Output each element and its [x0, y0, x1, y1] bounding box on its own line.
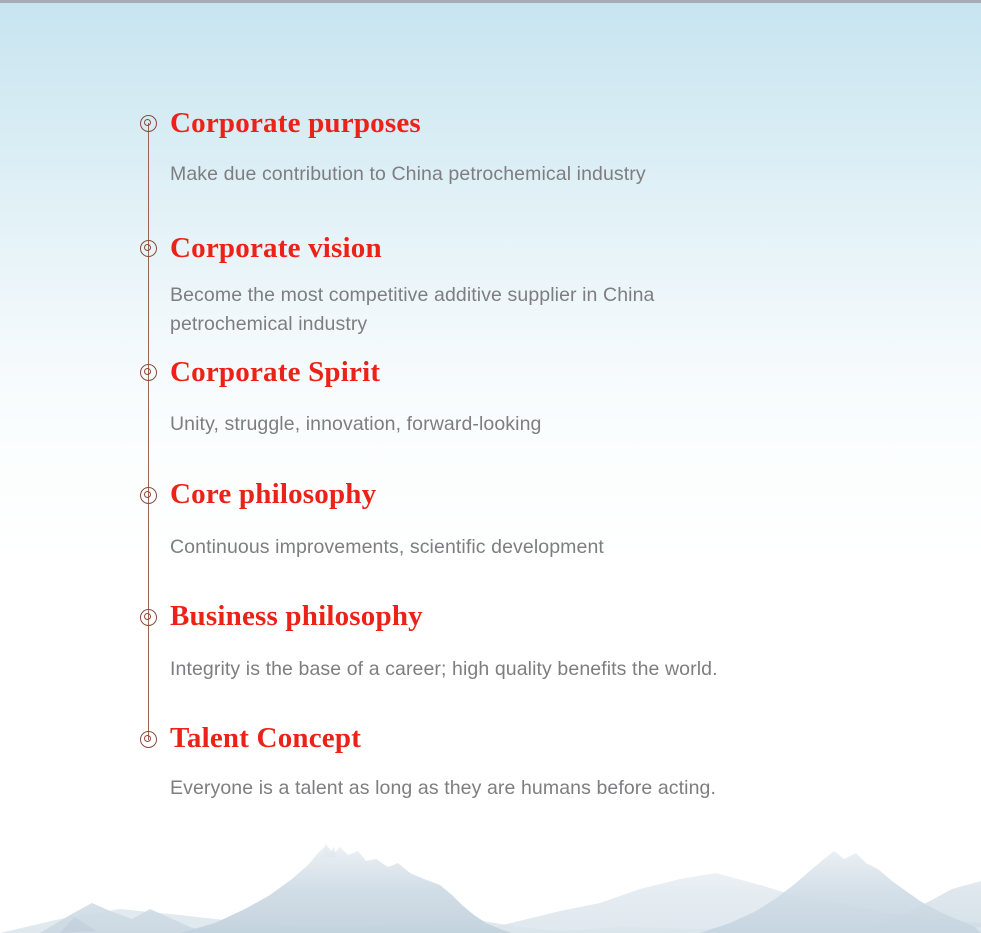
entry-body-text: Integrity is the base of a career; high … — [170, 655, 870, 684]
entry-body-text: Everyone is a talent as long as they are… — [170, 774, 870, 803]
entry-body-text: Unity, struggle, innovation, forward-loo… — [170, 410, 770, 439]
entry-heading: Corporate purposes — [170, 108, 421, 140]
entry-body-text: Continuous improvements, scientific deve… — [170, 533, 770, 562]
double-ring-circle-icon — [140, 364, 157, 381]
double-ring-circle-icon — [140, 240, 157, 257]
entry-heading: Talent Concept — [170, 723, 361, 755]
double-ring-circle-icon — [140, 731, 157, 748]
corporate-culture-timeline: Corporate purposes Make due contribution… — [0, 0, 981, 933]
entry-heading: Corporate Spirit — [170, 357, 380, 389]
entry-heading: Business philosophy — [170, 601, 423, 633]
entry-heading: Core philosophy — [170, 479, 376, 511]
double-ring-circle-icon — [140, 609, 157, 626]
timeline-vertical-line — [148, 123, 149, 740]
double-ring-circle-icon — [140, 487, 157, 504]
double-ring-circle-icon — [140, 115, 157, 132]
entry-body-text: Become the most competitive additive sup… — [170, 281, 755, 339]
entry-heading: Corporate vision — [170, 233, 382, 265]
entry-body-text: Make due contribution to China petrochem… — [170, 160, 770, 189]
corporate-culture-page: Corporate purposes Make due contribution… — [0, 0, 981, 933]
